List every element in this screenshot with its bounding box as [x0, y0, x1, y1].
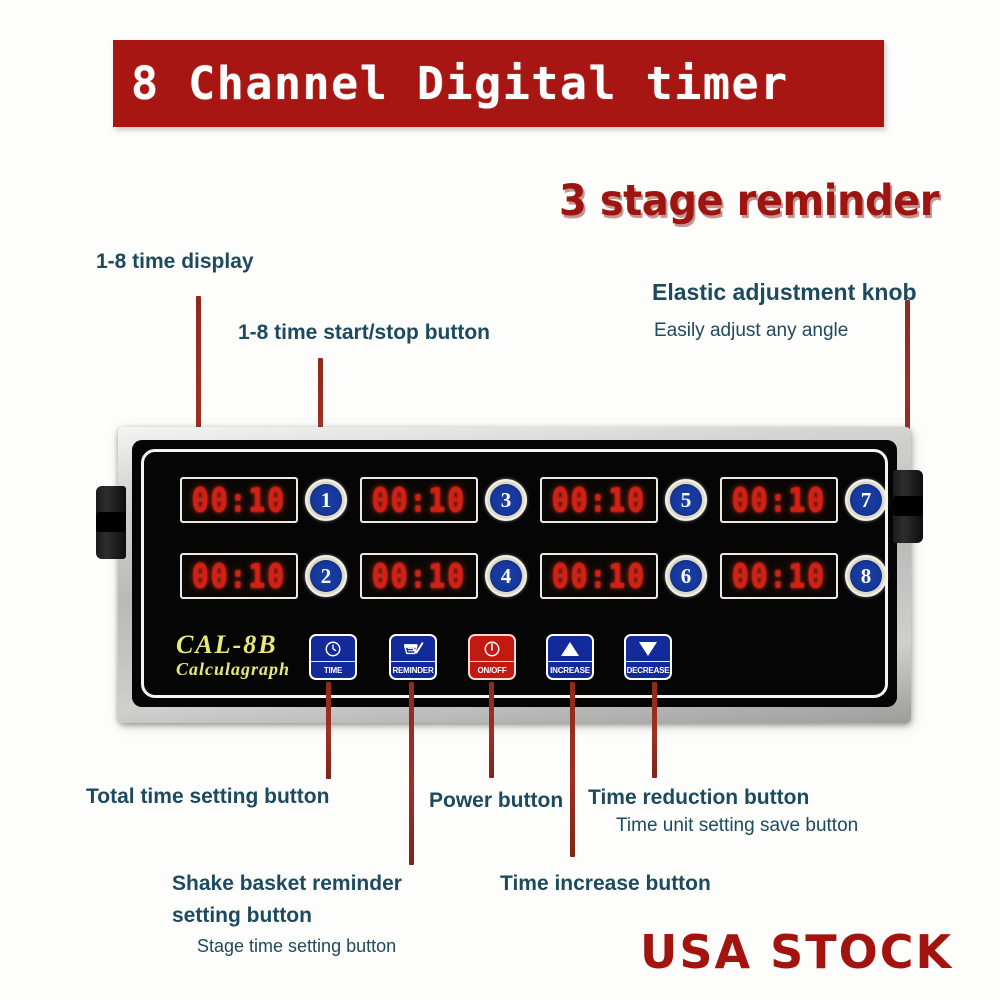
led-display-4: 00:10 — [360, 553, 478, 599]
increase-button-label: INCREASE — [548, 662, 592, 678]
reminder-button-label: REMINDER — [391, 662, 435, 678]
annotation-knob-title: Elastic adjustment knob — [652, 279, 917, 305]
led-display-5: 00:10 — [540, 477, 658, 523]
brand-mark: CAL-8B Calculagraph — [176, 630, 290, 679]
channel-module-1: 00:10 1 — [180, 472, 347, 528]
annotation-power: Power button — [429, 789, 563, 813]
led-digits-8: 00:10 — [732, 557, 826, 596]
channel-button-label-3: 3 — [501, 490, 512, 511]
time-button-label: TIME — [311, 662, 355, 678]
annotation-time-reduction: Time reduction button — [588, 786, 809, 810]
channel-button-label-5: 5 — [681, 490, 692, 511]
time-increase-button[interactable]: INCREASE — [546, 634, 594, 680]
led-digits-6: 00:10 — [552, 557, 646, 596]
channel-button-5[interactable]: 5 — [665, 479, 707, 521]
channel-button-3[interactable]: 3 — [485, 479, 527, 521]
led-display-6: 00:10 — [540, 553, 658, 599]
leader-line-shake-basket — [409, 682, 414, 865]
annotation-total-time: Total time setting button — [86, 785, 329, 809]
title-banner: 8 Channel Digital timer — [113, 40, 884, 127]
channel-module-3: 00:10 3 — [360, 472, 527, 528]
power-button[interactable]: ON/OFF — [468, 634, 516, 680]
led-display-1: 00:10 — [180, 477, 298, 523]
channel-button-1[interactable]: 1 — [305, 479, 347, 521]
power-button-label: ON/OFF — [470, 662, 514, 678]
channel-button-label-2: 2 — [321, 566, 332, 587]
leader-line-time-increase — [570, 682, 575, 857]
triangle-up-icon — [548, 636, 592, 662]
basket-icon — [391, 636, 435, 662]
leader-line-power — [489, 682, 494, 778]
channel-button-8[interactable]: 8 — [845, 555, 887, 597]
annotation-knob-sub: Easily adjust any angle — [654, 320, 848, 342]
product-marketing-image: 8 Channel Digital timer 3 stage reminder… — [0, 0, 1000, 1000]
triangle-down-icon — [626, 636, 670, 662]
channel-button-2[interactable]: 2 — [305, 555, 347, 597]
annotation-shake-basket-line2: setting button — [172, 904, 312, 928]
channel-button-label-4: 4 — [501, 566, 512, 587]
brand-subtitle: Calculagraph — [176, 659, 290, 679]
channel-module-4: 00:10 4 — [360, 548, 527, 604]
annotation-start-stop: 1-8 time start/stop button — [238, 321, 490, 345]
led-digits-7: 00:10 — [732, 481, 826, 520]
annotation-shake-basket-line1: Shake basket reminder — [172, 872, 402, 896]
leader-line-total-time — [326, 682, 331, 779]
stage-reminder-headline: 3 stage reminder — [559, 176, 939, 226]
channel-button-label-8: 8 — [861, 566, 872, 587]
elastic-adjustment-knob-right[interactable] — [893, 470, 923, 543]
leader-line-time-reduction — [652, 682, 657, 778]
led-digits-4: 00:10 — [372, 557, 466, 596]
channel-module-5: 00:10 5 — [540, 472, 707, 528]
led-digits-5: 00:10 — [552, 481, 646, 520]
reminder-setting-button[interactable]: REMINDER — [389, 634, 437, 680]
channel-module-2: 00:10 2 — [180, 548, 347, 604]
channel-module-7: 00:10 7 — [720, 472, 887, 528]
clock-icon — [311, 636, 355, 662]
annotation-time-unit-save: Time unit setting save button — [616, 815, 858, 837]
annotation-time-display: 1-8 time display — [96, 250, 254, 274]
channel-button-4[interactable]: 4 — [485, 555, 527, 597]
led-digits-3: 00:10 — [372, 481, 466, 520]
time-setting-button[interactable]: TIME — [309, 634, 357, 680]
banner-title: 8 Channel Digital timer — [113, 57, 789, 110]
elastic-adjustment-knob-left[interactable] — [96, 486, 126, 559]
led-digits-2: 00:10 — [192, 557, 286, 596]
channel-button-6[interactable]: 6 — [665, 555, 707, 597]
channel-module-8: 00:10 8 — [720, 548, 887, 604]
channel-module-6: 00:10 6 — [540, 548, 707, 604]
led-display-8: 00:10 — [720, 553, 838, 599]
power-icon — [470, 636, 514, 662]
time-decrease-button[interactable]: DECREASE — [624, 634, 672, 680]
channel-button-label-1: 1 — [321, 490, 332, 511]
channel-button-label-7: 7 — [861, 490, 872, 511]
led-display-2: 00:10 — [180, 553, 298, 599]
channel-button-7[interactable]: 7 — [845, 479, 887, 521]
led-digits-1: 00:10 — [192, 481, 286, 520]
channel-button-label-6: 6 — [681, 566, 692, 587]
annotation-stage-time: Stage time setting button — [197, 936, 396, 957]
brand-model: CAL-8B — [176, 630, 290, 659]
led-display-3: 00:10 — [360, 477, 478, 523]
annotation-time-increase: Time increase button — [500, 872, 711, 896]
usa-stock-badge: USA STOCK — [640, 925, 953, 979]
decrease-button-label: DECREASE — [626, 662, 670, 678]
led-display-7: 00:10 — [720, 477, 838, 523]
